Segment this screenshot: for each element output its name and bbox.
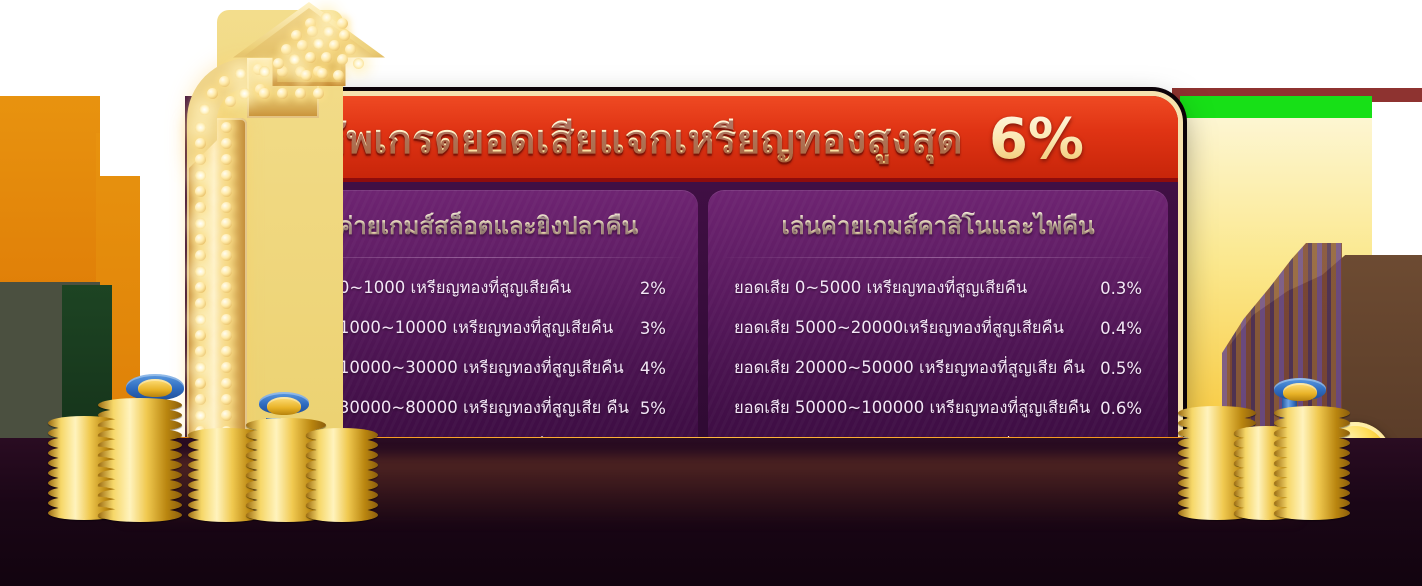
arrow-head-inner bbox=[243, 8, 375, 82]
coin-disc bbox=[98, 508, 182, 522]
coin-disc bbox=[306, 508, 378, 522]
rate-value: 5% bbox=[636, 399, 682, 418]
rate-value: 3% bbox=[636, 319, 682, 338]
panel-divider bbox=[726, 257, 1150, 258]
rate-value: 0.4% bbox=[1100, 319, 1152, 338]
table-row: ยอดเสีย 0~5000 เหรียญทองที่สูญเสียคืน 0.… bbox=[724, 268, 1152, 308]
accent-green-bar bbox=[1180, 96, 1372, 118]
table-row: ยอดเสีย 5000~20000เหรียญทองที่สูญเสียคืน… bbox=[724, 308, 1152, 348]
rate-label: ยอดเสีย 5000~20000เหรียญทองที่สูญเสียคืน bbox=[724, 315, 1100, 341]
arrow-head bbox=[233, 2, 385, 86]
rate-label: ยอดเสีย 50000~100000 เหรียญทองที่สูญเสีย… bbox=[724, 395, 1100, 421]
rate-label: ยอดเสีย 20000~50000 เหรียญทองที่สูญเสีย … bbox=[724, 355, 1100, 381]
gift-bow bbox=[1260, 378, 1340, 408]
coin-disc bbox=[1274, 506, 1350, 520]
rate-value: 4% bbox=[636, 359, 682, 378]
rate-row-list: ยอดเสีย 0~5000 เหรียญทองที่สูญเสียคืน 0.… bbox=[724, 262, 1152, 441]
coin-stack bbox=[306, 424, 378, 522]
coin-stack bbox=[98, 386, 182, 522]
promo-banner: อัพเกรดยอดเสียแจกเหรียญทองสูงสุด 6% เล่น… bbox=[0, 0, 1422, 586]
rate-value: 0.3% bbox=[1100, 279, 1152, 298]
panel-casino-cards: เล่นค่ายเกมส์คาสิโนและไพ่คืน ยอดเสีย 0~5… bbox=[708, 190, 1168, 441]
table-row: ยอดเสีย 50000~100000 เหรียญทองที่สูญเสีย… bbox=[724, 388, 1152, 428]
rate-label: ยอดเสีย 0~5000 เหรียญทองที่สูญเสียคืน bbox=[724, 275, 1100, 301]
headline-percent-badge: 6% bbox=[989, 107, 1084, 172]
page-title: อัพเกรดยอดเสียแจกเหรียญทองสูงสุด bbox=[322, 107, 963, 171]
rate-value: 2% bbox=[636, 279, 682, 298]
coin-stack bbox=[1274, 396, 1350, 520]
panel-heading: เล่นค่ายเกมส์คาสิโนและไพ่คืน bbox=[724, 202, 1152, 257]
coin-cluster-left: $ bbox=[38, 372, 368, 522]
table-row: ยอดเสีย 20000~50000 เหรียญทองที่สูญเสีย … bbox=[724, 348, 1152, 388]
rate-value: 0.6% bbox=[1100, 399, 1152, 418]
rate-value: 0.5% bbox=[1100, 359, 1152, 378]
